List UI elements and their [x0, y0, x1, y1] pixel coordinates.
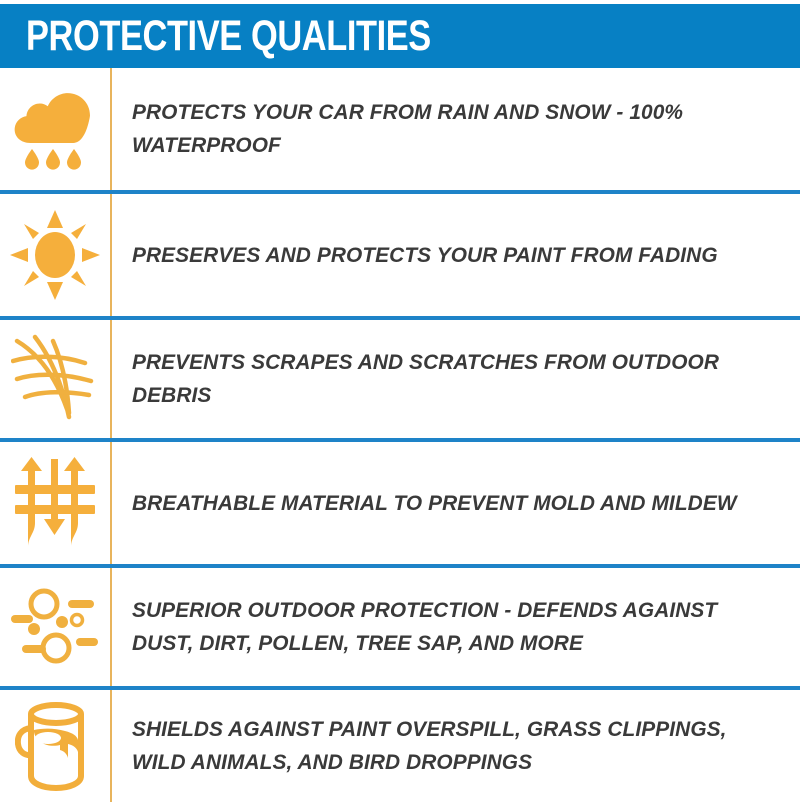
feature-text-cell: SUPERIOR OUTDOOR PROTECTION - DEFENDS AG…: [110, 594, 800, 660]
feature-text-cell: PRESERVES AND PROTECTS YOUR PAINT FROM F…: [110, 239, 800, 272]
dust-particles-icon: [10, 582, 100, 672]
feature-label: PRESERVES AND PROTECTS YOUR PAINT FROM F…: [132, 239, 764, 272]
feature-text-cell: SHIELDS AGAINST PAINT OVERSPILL, GRASS C…: [110, 713, 800, 779]
rain-cloud-icon: [12, 86, 98, 172]
feature-icon-cell: [0, 320, 110, 438]
breathable-airflow-arrows-icon: [13, 457, 97, 549]
feature-label: SUPERIOR OUTDOOR PROTECTION - DEFENDS AG…: [132, 594, 764, 660]
feature-icon-cell: [0, 568, 110, 686]
feature-icon-cell: [0, 194, 110, 316]
column-divider-rule: [110, 68, 112, 190]
feature-row-paint: SHIELDS AGAINST PAINT OVERSPILL, GRASS C…: [0, 690, 800, 802]
feature-list: PROTECTS YOUR CAR FROM RAIN AND SNOW - 1…: [0, 68, 800, 802]
feature-icon-cell: [0, 442, 110, 564]
feature-text-cell: PREVENTS SCRAPES AND SCRATCHES FROM OUTD…: [110, 346, 800, 412]
column-divider-rule: [110, 690, 112, 802]
header-banner: PROTECTIVE QUALITIES: [0, 4, 800, 68]
column-divider-rule: [110, 568, 112, 686]
paint-can-icon: [15, 698, 95, 794]
feature-text-cell: PROTECTS YOUR CAR FROM RAIN AND SNOW - 1…: [110, 96, 800, 162]
feature-icon-cell: [0, 690, 110, 802]
infographic-page: PROTECTIVE QUALITIES PROTECTS YOUR CAR F…: [0, 0, 800, 800]
column-divider-rule: [110, 194, 112, 316]
feature-label: SHIELDS AGAINST PAINT OVERSPILL, GRASS C…: [132, 713, 764, 779]
column-divider-rule: [110, 320, 112, 438]
feature-row-breathable: BREATHABLE MATERIAL TO PREVENT MOLD AND …: [0, 442, 800, 564]
page-title: PROTECTIVE QUALITIES: [26, 14, 431, 58]
feature-row-sun: PRESERVES AND PROTECTS YOUR PAINT FROM F…: [0, 194, 800, 316]
sun-icon: [10, 210, 100, 300]
feature-icon-cell: [0, 68, 110, 190]
feature-label: PREVENTS SCRAPES AND SCRATCHES FROM OUTD…: [132, 346, 764, 412]
column-divider-rule: [110, 442, 112, 564]
feature-row-mesh: PREVENTS SCRAPES AND SCRATCHES FROM OUTD…: [0, 320, 800, 438]
feature-text-cell: BREATHABLE MATERIAL TO PREVENT MOLD AND …: [110, 487, 800, 520]
feature-row-dust: SUPERIOR OUTDOOR PROTECTION - DEFENDS AG…: [0, 568, 800, 686]
feature-label: BREATHABLE MATERIAL TO PREVENT MOLD AND …: [132, 487, 764, 520]
feature-label: PROTECTS YOUR CAR FROM RAIN AND SNOW - 1…: [132, 96, 764, 162]
feature-row-rain: PROTECTS YOUR CAR FROM RAIN AND SNOW - 1…: [0, 68, 800, 190]
mesh-net-icon: [11, 333, 99, 425]
